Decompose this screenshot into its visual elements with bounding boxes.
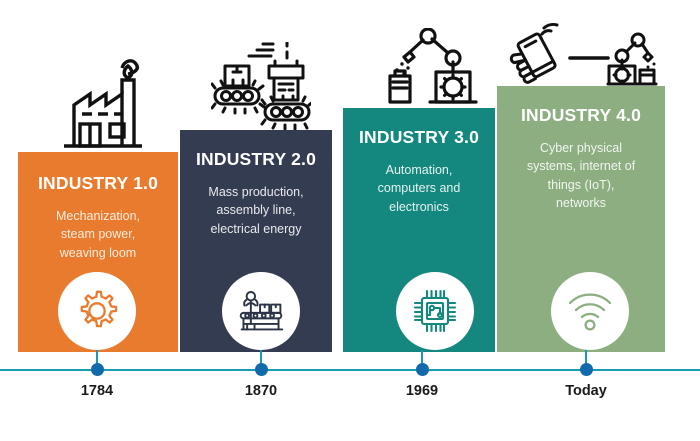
tick-dot-1870[interactable] — [255, 363, 268, 376]
tick-label-1870: 1870 — [201, 383, 321, 399]
column-description-industry-2: Mass production, assembly line, electric… — [180, 183, 332, 237]
tick-label-today: Today — [526, 383, 646, 399]
tick-dot-today[interactable] — [580, 363, 593, 376]
industry-evolution-infographic: INDUSTRY 1.0 Mechanization, steam power,… — [0, 0, 700, 441]
column-title-industry-1: INDUSTRY 1.0 — [18, 174, 178, 193]
column-description-industry-1: Mechanization, steam power, weaving loom — [18, 207, 178, 261]
tick-dot-1969[interactable] — [416, 363, 429, 376]
timeline-axis — [0, 369, 700, 371]
column-description-industry-4: Cyber physical systems, internet of thin… — [497, 139, 665, 212]
assembly-line-worker-icon — [237, 288, 285, 334]
column-title-industry-4: INDUSTRY 4.0 — [497, 106, 665, 125]
tick-dot-1784[interactable] — [91, 363, 104, 376]
smartphone-robot-network-icon — [508, 22, 660, 90]
gear-icon — [74, 288, 120, 334]
microchip-icon — [411, 287, 459, 335]
wifi-icon — [566, 290, 614, 332]
tick-label-1784: 1784 — [37, 383, 157, 399]
badge-industry-4 — [551, 272, 629, 350]
badge-industry-3 — [396, 272, 474, 350]
badge-industry-2 — [222, 272, 300, 350]
conveyor-belt-icon — [211, 42, 311, 130]
tick-label-1969: 1969 — [362, 383, 482, 399]
column-title-industry-3: INDUSTRY 3.0 — [343, 128, 495, 147]
column-title-industry-2: INDUSTRY 2.0 — [180, 150, 332, 169]
factory-icon — [52, 58, 148, 150]
robotic-arm-icon — [382, 28, 478, 112]
column-description-industry-3: Automation, computers and electronics — [343, 161, 495, 215]
badge-industry-1 — [58, 272, 136, 350]
